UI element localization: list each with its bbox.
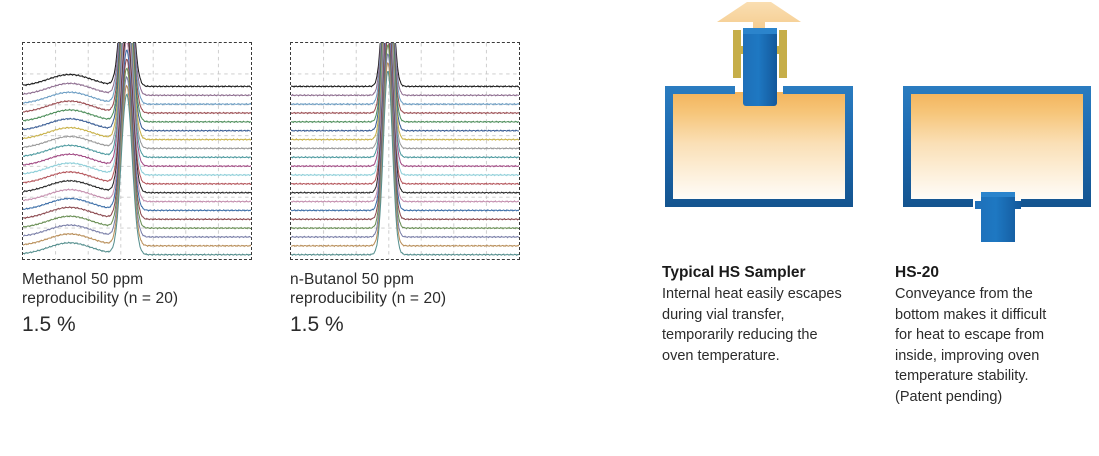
chromatogram-plot-n-butanol: [291, 43, 519, 259]
chart-trace: [291, 43, 519, 87]
chart-trace: [291, 43, 519, 184]
chart-traces: [291, 43, 519, 255]
chart-traces: [23, 43, 251, 255]
description-hs-20: HS-20 Conveyance from the bottom makes i…: [895, 262, 1095, 407]
body-line: temporarily reducing the: [662, 325, 867, 346]
body-line: inside, improving oven: [895, 346, 1095, 367]
chart-trace: [291, 43, 519, 193]
sample-vial-bottom: [975, 192, 1021, 242]
chart-trace: [291, 43, 519, 140]
chromatogram-panel-methanol: Methanol 50 ppm reproducibility (n = 20)…: [22, 42, 252, 260]
chart-trace: [291, 43, 519, 96]
caption-n-butanol: n-Butanol 50 ppm reproducibility (n = 20…: [290, 270, 540, 338]
body-line: Internal heat easily escapes: [662, 284, 867, 305]
body-line: (Patent pending): [895, 387, 1095, 408]
body-line: oven temperature.: [662, 346, 867, 367]
caption-line-1: Methanol 50 ppm: [22, 270, 272, 289]
caption-line-2: reproducibility (n = 20): [22, 289, 272, 308]
chart-trace: [291, 43, 519, 123]
body-line: for heat to escape from: [895, 325, 1095, 346]
chart-frame-methanol: [22, 42, 252, 260]
body-line: bottom makes it difficult: [895, 305, 1095, 326]
block-heading: Typical HS Sampler: [662, 262, 867, 283]
oven-chamber: [903, 86, 1091, 207]
block-body: Conveyance from the bottom makes it diff…: [895, 284, 1095, 407]
body-line: Conveyance from the: [895, 284, 1095, 305]
chromatogram-panel-n-butanol: n-Butanol 50 ppm reproducibility (n = 20…: [290, 42, 520, 260]
chart-trace: [291, 43, 519, 176]
diagram-typical-hs-sampler: [655, 2, 865, 242]
diagram-hs-20: [893, 2, 1093, 242]
chart-trace: [291, 43, 519, 158]
caption-methanol: Methanol 50 ppm reproducibility (n = 20)…: [22, 270, 272, 338]
description-typical-hs-sampler: Typical HS Sampler Internal heat easily …: [662, 262, 867, 366]
block-heading: HS-20: [895, 262, 1095, 283]
chart-frame-n-butanol: [290, 42, 520, 260]
caption-line-2: reproducibility (n = 20): [290, 289, 540, 308]
chart-trace: [291, 43, 519, 114]
chart-gridlines: [291, 43, 519, 259]
caption-value: 1.5 %: [22, 311, 272, 338]
chromatogram-plot-methanol: [23, 43, 251, 259]
body-line: during vial transfer,: [662, 305, 867, 326]
block-body: Internal heat easily escapes during vial…: [662, 284, 867, 366]
caption-line-1: n-Butanol 50 ppm: [290, 270, 540, 289]
body-line: temperature stability.: [895, 366, 1095, 387]
caption-value: 1.5 %: [290, 311, 540, 338]
chart-trace: [291, 43, 519, 211]
chart-trace: [291, 43, 519, 202]
